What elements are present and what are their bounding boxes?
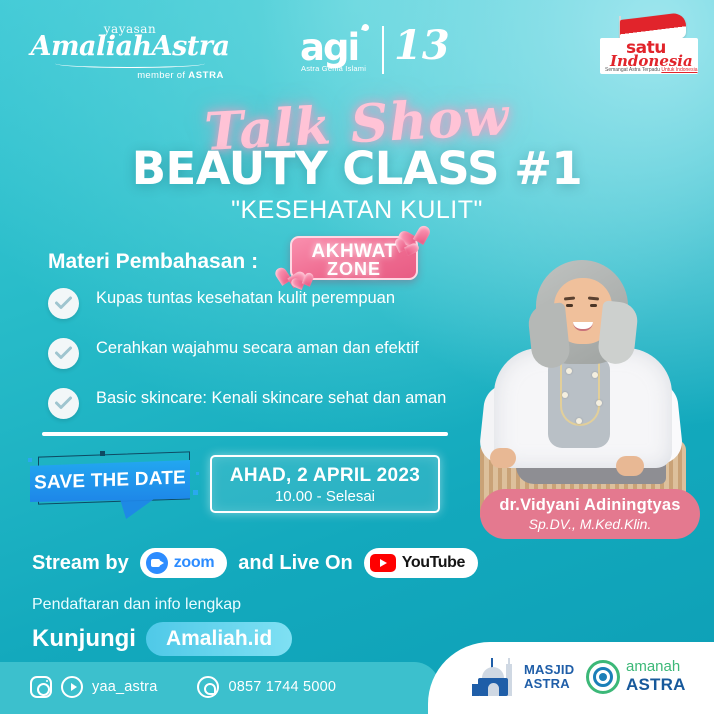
agi-wordmark: agi — [300, 26, 358, 69]
speaker-credentials: Sp.DV., M.Ked.Klin. — [480, 516, 700, 532]
footer-contact-row: yaa_astra 0857 1744 5000 — [30, 676, 336, 698]
masjid-astra-logo: MASJID ASTRA — [472, 658, 574, 696]
visit-label: Kunjungi — [32, 625, 136, 653]
youtube-label: YouTube — [402, 554, 465, 572]
masjid-line2: ASTRA — [524, 676, 570, 691]
list-item: Kupas tuntas kesehatan kulit perempuan — [48, 288, 448, 326]
partner-logo-panel: MASJID ASTRA amanah ASTRA — [428, 642, 714, 714]
event-time: 10.00 - Selesai — [212, 488, 438, 505]
header-logo-row: yayasan AmaliahAstra member of ASTRA agi… — [0, 0, 714, 90]
amanah-line2: ASTRA — [626, 675, 686, 694]
stream-prefix-label: Stream by — [32, 552, 129, 575]
amaliah-astra-logo: yayasan AmaliahAstra member of ASTRA — [30, 22, 230, 81]
phone-number: 0857 1744 5000 — [228, 679, 336, 695]
poster-canvas: yayasan AmaliahAstra member of ASTRA agi… — [0, 0, 714, 714]
materi-list: Kupas tuntas kesehatan kulit perempuan C… — [48, 288, 448, 438]
agi-subtitle: Astra Gema Islami — [301, 64, 366, 73]
agi-crescent-icon — [361, 23, 370, 32]
page-subtitle: "KESEHATAN KULIT" — [0, 196, 714, 225]
speaker-name-badge: dr.Vidyani Adiningtyas Sp.DV., M.Ked.Kli… — [480, 489, 700, 539]
pearl-bead — [596, 400, 602, 406]
decor-square — [28, 458, 32, 462]
pearl-bead — [566, 368, 572, 374]
visit-row: Kunjungi Amaliah.id — [32, 622, 292, 656]
youtube-badge[interactable]: YouTube — [364, 548, 478, 578]
speaker-eye-right — [590, 304, 597, 307]
spiral-icon — [586, 660, 620, 694]
agi-edition-number: 13 — [394, 22, 450, 69]
list-item: Cerahkan wajahmu secara aman dan efektif — [48, 338, 448, 376]
list-item-label: Cerahkan wajahmu secara aman dan efektif — [96, 336, 419, 357]
speaker-photo — [456, 252, 706, 520]
masjid-astra-text: MASJID ASTRA — [524, 663, 574, 690]
mosque-icon — [472, 658, 518, 696]
amanah-line1: amanah — [626, 658, 680, 675]
section-divider — [42, 432, 448, 436]
save-the-date-badge: SAVE THE DATE — [28, 452, 203, 514]
akhwat-zone-badge: AKHWAT ZONE — [290, 236, 418, 280]
list-item-label: Kupas tuntas kesehatan kulit perempuan — [96, 286, 395, 307]
pearl-bead — [576, 418, 582, 424]
page-title: BEAUTY CLASS #1 — [0, 142, 714, 195]
check-circle-icon — [48, 288, 79, 319]
save-the-date-tail — [120, 499, 154, 519]
zoom-badge[interactable]: zoom — [140, 548, 228, 578]
agi-logo: agi Astra Gema Islami 13 — [300, 24, 430, 78]
speaker-hand-left — [490, 448, 516, 468]
youtube-icon[interactable] — [61, 676, 83, 698]
speaker-name: dr.Vidyani Adiningtyas — [480, 496, 700, 515]
save-the-date-label: SAVE THE DATE — [30, 457, 190, 505]
amaliah-yayasan-text: yayasan — [30, 22, 230, 36]
satu-indonesia-logo: satu Indonesia Semangat Astra Terpadu Un… — [596, 16, 702, 78]
amaliah-member-text: member of ASTRA — [30, 70, 230, 81]
check-circle-icon — [48, 388, 79, 419]
pearl-bead — [562, 392, 568, 398]
speaker-hand-right — [616, 456, 644, 476]
footer-bar: yaa_astra 0857 1744 5000 — [0, 662, 440, 714]
speaker-necklace — [560, 356, 600, 426]
stream-row: Stream by zoom and Live On YouTube — [32, 548, 478, 578]
decor-square — [196, 472, 199, 475]
event-date-box: AHAD, 2 APRIL 2023 10.00 - Selesai — [210, 455, 440, 513]
amanah-astra-logo: amanah ASTRA — [586, 658, 686, 695]
list-item-label: Basic skincare: Kenali skincare sehat da… — [96, 386, 446, 407]
decor-square — [100, 451, 105, 456]
stream-middle-label: and Live On — [238, 552, 352, 575]
youtube-play-icon — [370, 554, 396, 572]
amaliah-name-text: AmaliahAstra — [30, 32, 230, 62]
zoom-label: zoom — [174, 554, 215, 572]
speaker-eye-left — [566, 304, 573, 307]
instagram-icon[interactable] — [30, 676, 52, 698]
agi-divider — [382, 26, 384, 74]
satu-tagline: Semangat Astra Terpadu Untuk Indonesia — [605, 67, 697, 73]
registration-info: Pendaftaran dan info lengkap — [32, 596, 241, 614]
pearl-bead — [592, 372, 598, 378]
check-circle-icon — [48, 338, 79, 369]
amanah-astra-text: amanah ASTRA — [626, 658, 686, 695]
event-date: AHAD, 2 APRIL 2023 — [212, 465, 438, 487]
zoom-camera-icon — [146, 552, 168, 574]
list-item: Basic skincare: Kenali skincare sehat da… — [48, 388, 448, 426]
akhwat-badge-line2: ZONE — [290, 259, 418, 280]
social-handle: yaa_astra — [92, 679, 157, 695]
materi-heading: Materi Pembahasan : — [48, 250, 258, 274]
whatsapp-icon[interactable] — [197, 676, 219, 698]
decor-square — [193, 490, 198, 495]
website-pill[interactable]: Amaliah.id — [146, 622, 292, 656]
